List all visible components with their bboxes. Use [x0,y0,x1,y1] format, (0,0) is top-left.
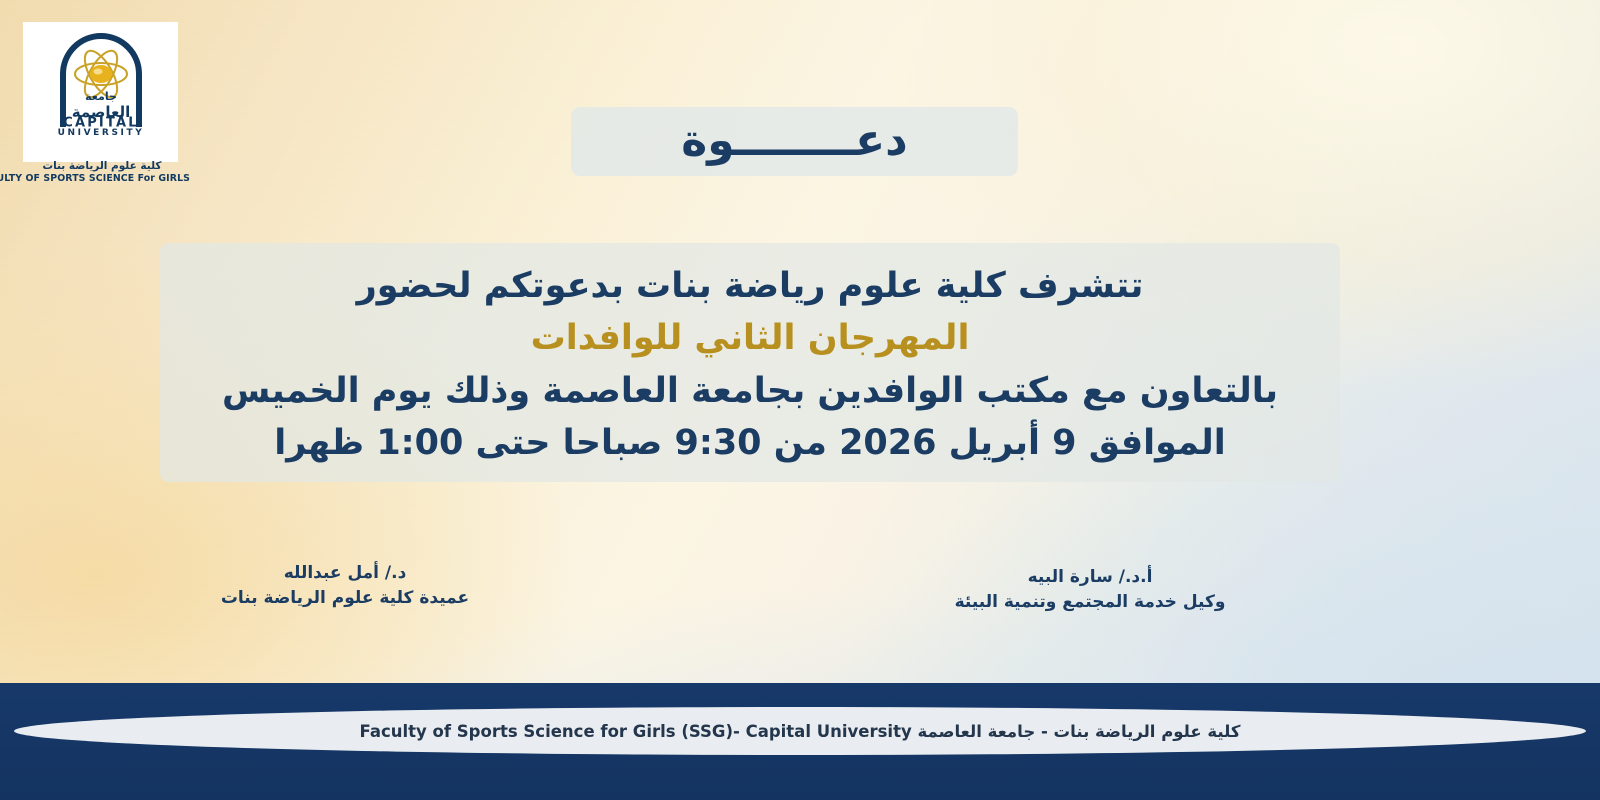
body-line-2-event-name: المهرجان الثاني للوافدات [531,312,970,365]
footer-text: كلية علوم الرياضة بنات - جامعة العاصمة F… [360,722,1241,741]
logo-mark-svg: جامعة العاصمة CAPITAL UNIVERSITY [37,28,165,136]
atom-nucleus-icon [90,65,112,83]
page-title: دعــــــــوة [681,119,908,163]
signature-vice-president-name: أ.د./ سارة البيه [925,565,1255,590]
signature-dean-name: د./ أمل عبدالله [185,561,505,586]
university-logo: جامعة العاصمة CAPITAL UNIVERSITY [23,22,178,162]
signature-dean: د./ أمل عبدالله عميدة كلية علوم الرياضة … [185,561,505,610]
body-line-4-datetime: الموافق 9 أبريل 2026 من 9:30 صباحا حتى 1… [274,417,1225,470]
invitation-body-panel: تتشرف كلية علوم رياضة بنات بدعوتكم لحضور… [160,243,1340,482]
atom-nucleus-highlight [93,69,102,75]
body-line-1: تتشرف كلية علوم رياضة بنات بدعوتكم لحضور [357,260,1144,313]
logo-faculty-arabic: كلية علوم الرياضة بنات [14,160,190,172]
footer-pill: كلية علوم الرياضة بنات - جامعة العاصمة F… [14,707,1586,755]
invitation-poster: جامعة العاصمة CAPITAL UNIVERSITY كلية عل… [0,0,1600,800]
signature-vice-president-role: وكيل خدمة المجتمع وتنمية البيئة [925,590,1255,615]
signature-dean-role: عميدة كلية علوم الرياضة بنات [185,586,505,611]
signature-vice-president: أ.د./ سارة البيه وكيل خدمة المجتمع وتنمي… [925,565,1255,614]
logo-faculty-english: FACULTY OF SPORTS SCIENCE For GIRLS [14,174,190,185]
title-banner: دعــــــــوة [571,107,1018,176]
logo-wordmark-university: UNIVERSITY [57,128,144,136]
logo-subtitle: كلية علوم الرياضة بنات FACULTY OF SPORTS… [14,160,190,185]
body-line-3: بالتعاون مع مكتب الوافدين بجامعة العاصمة… [222,365,1278,418]
logo-arabic-jamiaa: جامعة [85,90,117,103]
